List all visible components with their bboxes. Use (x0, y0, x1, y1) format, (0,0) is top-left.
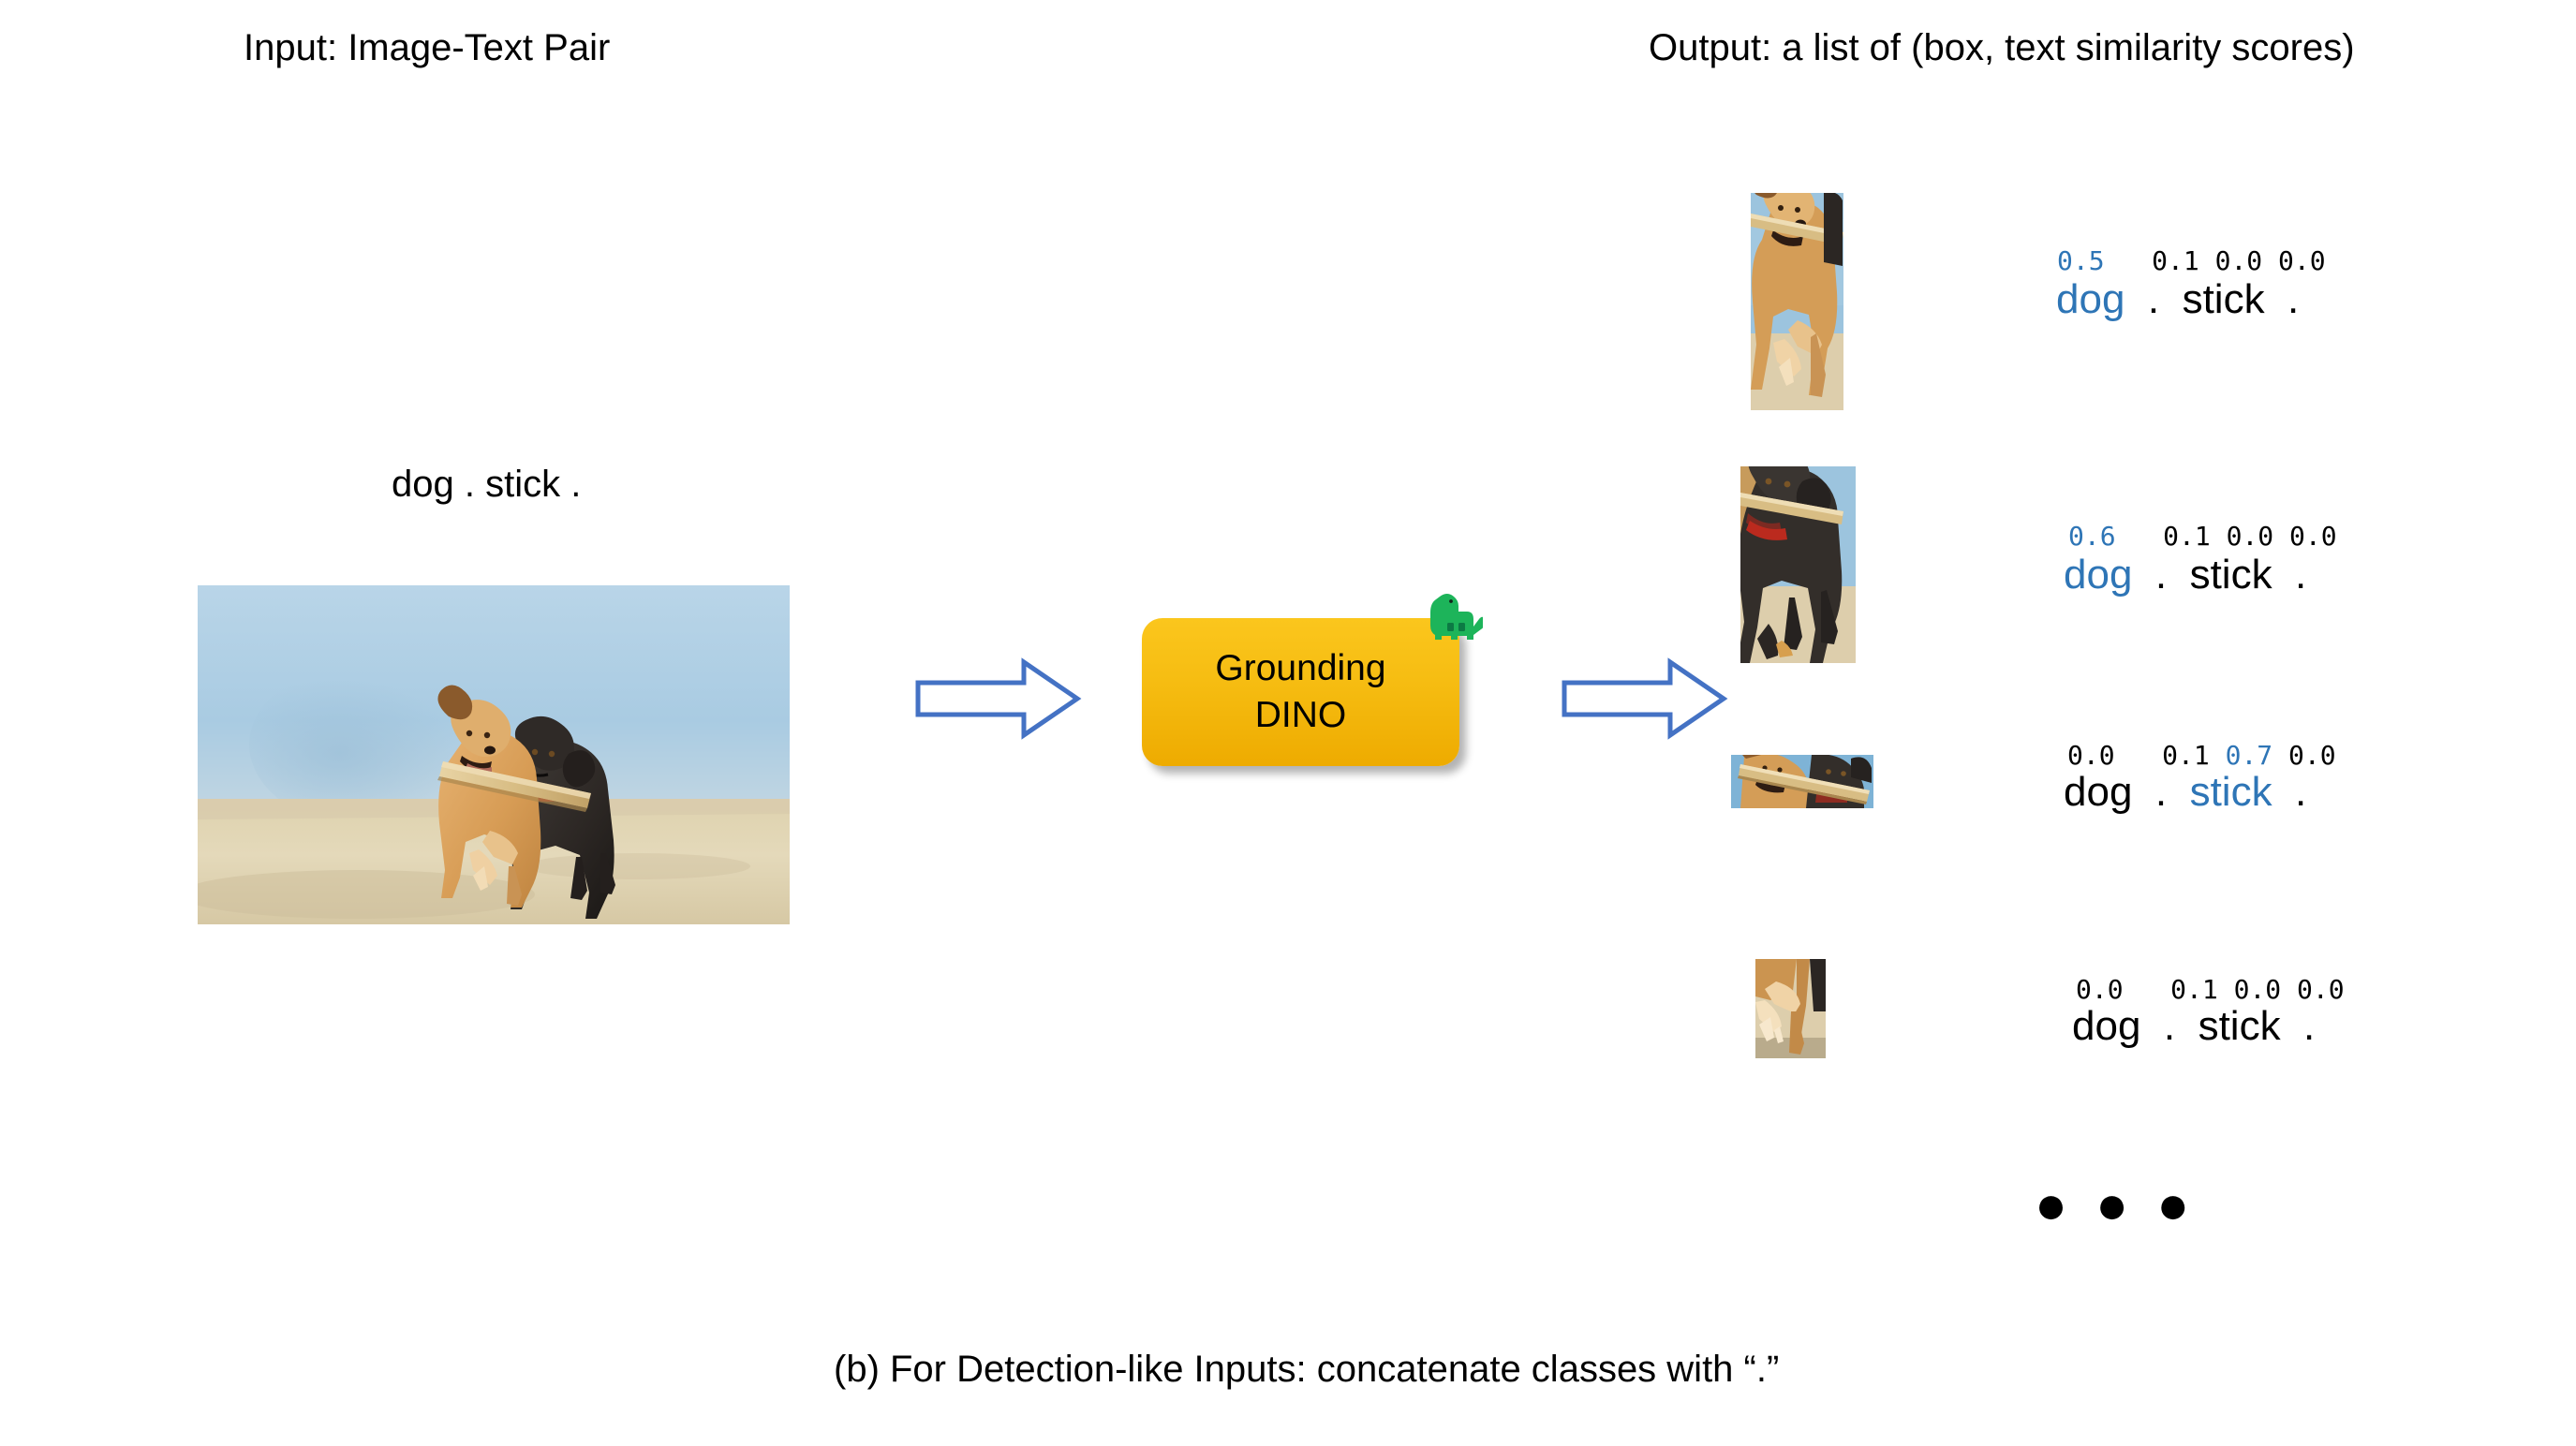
row-4-score-2: 0.0 (2234, 974, 2282, 1005)
row-1-token-0: dog (2056, 276, 2124, 322)
row-1-score-3: 0.0 (2278, 245, 2326, 276)
more-results-ellipsis: ● ● ● (2035, 1178, 2196, 1232)
flow-arrow-1 (913, 656, 1082, 742)
dinosaur-icon (1419, 589, 1483, 642)
dinosaur-glyph (1419, 589, 1483, 642)
beach-dogs-photo (198, 585, 790, 924)
stick-crop (1731, 755, 1873, 808)
input-image (198, 585, 790, 924)
right-arrow-icon (1560, 656, 1728, 742)
dog-legs-crop (1755, 959, 1826, 1058)
row-3-token-3: . (2295, 769, 2306, 815)
row-4-score-1: 0.1 (2170, 974, 2218, 1005)
row-2-score-0: 0.6 (2068, 521, 2116, 552)
row-1-token-1: . (2148, 276, 2159, 322)
output-crop-2 (1740, 466, 1856, 663)
row-2-tokens: dog . stick . (2064, 553, 2306, 598)
row-4-token-0: dog (2072, 1003, 2140, 1049)
output-header: Output: a list of (box, text similarity … (1649, 25, 2576, 70)
row-4-score-3: 0.0 (2297, 974, 2345, 1005)
row-3-score-3: 0.0 (2288, 740, 2336, 771)
row-2-token-3: . (2295, 552, 2306, 598)
tan-dog-crop (1751, 193, 1843, 410)
row-4-token-3: . (2303, 1003, 2315, 1049)
row-1-score-1: 0.1 (2152, 245, 2199, 276)
row-3-score-0: 0.0 (2067, 740, 2115, 771)
row-1-score-0: 0.5 (2057, 245, 2105, 276)
row-1-scores: 0.5 0.1 0.0 0.0 (2057, 245, 2326, 276)
row-2-score-3: 0.0 (2289, 521, 2337, 552)
row-1-tokens: dog . stick . (2056, 277, 2299, 322)
row-2-token-1: . (2155, 552, 2167, 598)
row-2-token-0: dog (2064, 552, 2132, 598)
row-2-scores: 0.6 0.1 0.0 0.0 (2068, 521, 2337, 552)
figure-caption: (b) For Detection-like Inputs: concatena… (834, 1349, 1779, 1391)
input-prompt-text: dog . stick . (392, 464, 581, 506)
right-arrow-icon (913, 656, 1082, 742)
row-3-tokens: dog . stick . (2064, 770, 2306, 815)
output-crop-1 (1751, 193, 1843, 410)
row-4-tokens: dog . stick . (2072, 1004, 2315, 1049)
row-1-token-3: . (2287, 276, 2299, 322)
row-3-token-2: stick (2190, 769, 2273, 815)
row-3-score-2: 0.7 (2226, 740, 2273, 771)
row-3-token-1: . (2155, 769, 2167, 815)
output-crop-3 (1731, 755, 1873, 808)
row-4-score-0: 0.0 (2076, 974, 2124, 1005)
row-3-token-0: dog (2064, 769, 2132, 815)
model-name-line-1: Grounding (1215, 645, 1385, 692)
row-2-score-1: 0.1 (2163, 521, 2211, 552)
output-crop-4 (1755, 959, 1826, 1058)
row-3-score-1: 0.1 (2162, 740, 2210, 771)
row-2-score-2: 0.0 (2227, 521, 2274, 552)
row-4-token-2: stick (2198, 1003, 2281, 1049)
row-4-token-1: . (2164, 1003, 2175, 1049)
row-2-token-2: stick (2190, 552, 2273, 598)
black-dog-crop (1740, 466, 1856, 663)
grounding-dino-box[interactable]: Grounding DINO (1142, 618, 1459, 766)
model-name-line-2: DINO (1255, 692, 1347, 739)
row-4-scores: 0.0 0.1 0.0 0.0 (2076, 974, 2345, 1005)
row-1-score-2: 0.0 (2215, 245, 2263, 276)
row-1-token-2: stick (2183, 276, 2265, 322)
flow-arrow-2 (1560, 656, 1728, 742)
row-3-scores: 0.0 0.1 0.7 0.0 (2067, 740, 2336, 771)
input-header: Input: Image-Text Pair (244, 25, 731, 70)
